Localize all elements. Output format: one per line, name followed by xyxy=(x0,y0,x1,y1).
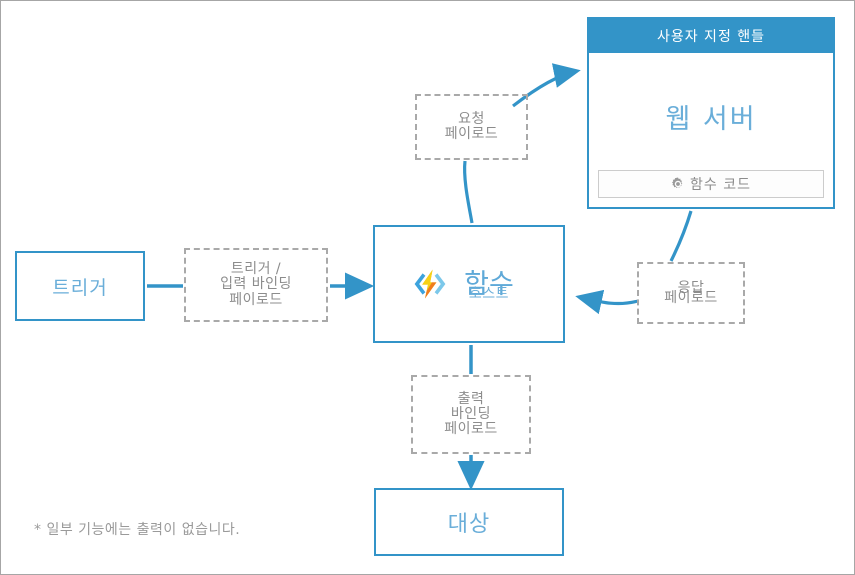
target-box[interactable]: 대상 xyxy=(374,488,564,556)
trigger-payload-line-2: 입력 바인딩 xyxy=(186,277,326,292)
trigger-input-binding-payload-box: 트리거 / 입력 바인딩 페이로드 xyxy=(184,248,328,322)
connector-function-to-request-payload xyxy=(465,161,472,223)
web-server-body: 웹 서버 함수 코드 xyxy=(589,53,833,207)
diagram-canvas: 트리거 트리거 / 입력 바인딩 페이로드 요청 페이로드 응답 페이로드 xyxy=(0,0,855,575)
web-server-card[interactable]: 사용자 지정 핸들 웹 서버 함수 코드 xyxy=(587,17,835,209)
function-host-labels: 함수 호스트 xyxy=(453,264,525,304)
output-binding-payload-box: 출력 바인딩 페이로드 xyxy=(411,375,531,454)
function-host-box[interactable]: 함수 호스트 xyxy=(373,225,565,343)
function-code-label: 함수 코드 xyxy=(690,174,751,194)
connector-response-payload-to-function xyxy=(579,297,638,304)
web-server-header: 사용자 지정 핸들 xyxy=(589,19,833,53)
function-host-subtitle: 호스트 xyxy=(453,283,525,303)
output-payload-line-3: 페이로드 xyxy=(413,422,529,437)
output-payload-line-1: 출력 xyxy=(413,392,529,407)
connector-webserver-to-response-payload xyxy=(671,211,691,261)
trigger-label: 트리거 xyxy=(52,273,107,300)
web-server-title: 웹 서버 xyxy=(589,97,833,136)
function-code-button[interactable]: 함수 코드 xyxy=(598,170,824,198)
response-payload-line-2: 페이로드 xyxy=(639,293,743,303)
footnote-text: * 일부 기능에는 출력이 없습니다. xyxy=(34,519,240,539)
trigger-payload-line-3: 페이로드 xyxy=(186,293,326,308)
web-server-header-label: 사용자 지정 핸들 xyxy=(657,26,765,46)
response-payload-box: 응답 페이로드 xyxy=(637,262,745,324)
output-payload-line-2: 바인딩 xyxy=(413,407,529,422)
target-label: 대상 xyxy=(448,506,490,538)
request-payload-line-2: 페이로드 xyxy=(417,127,526,142)
request-payload-box: 요청 페이로드 xyxy=(415,94,528,160)
trigger-box[interactable]: 트리거 xyxy=(15,251,145,321)
function-host-content: 함수 호스트 xyxy=(375,264,563,304)
request-payload-line-1: 요청 xyxy=(417,112,526,127)
azure-functions-logo-icon xyxy=(413,267,447,301)
gear-icon xyxy=(671,177,685,191)
trigger-payload-line-1: 트리거 / xyxy=(186,262,326,277)
